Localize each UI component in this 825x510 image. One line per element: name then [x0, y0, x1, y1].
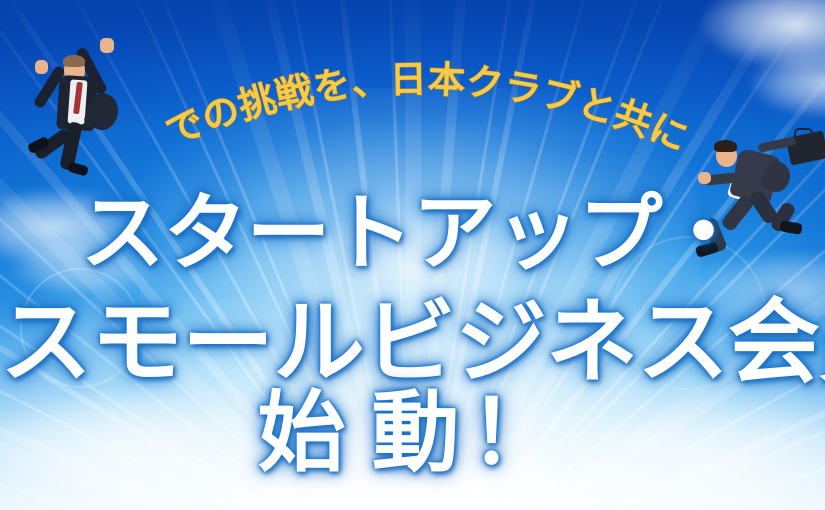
jumping-businessman	[22, 24, 152, 174]
briefcase-handle	[794, 128, 813, 139]
headline-line-3-part-2: 動！	[372, 383, 568, 482]
jumper-left-hand	[35, 60, 48, 74]
jumper-right-hand	[100, 38, 114, 53]
runner-hair	[714, 140, 737, 152]
headline-line-3-part-1: 始	[257, 383, 371, 482]
headline-line-3: 始動！	[0, 362, 825, 489]
jumper-hair	[63, 55, 85, 67]
promotional-banner: NYでの挑戦を、日本クラブと共に。 スタートアップ・ スモールビジネス会員 始動…	[0, 0, 825, 510]
